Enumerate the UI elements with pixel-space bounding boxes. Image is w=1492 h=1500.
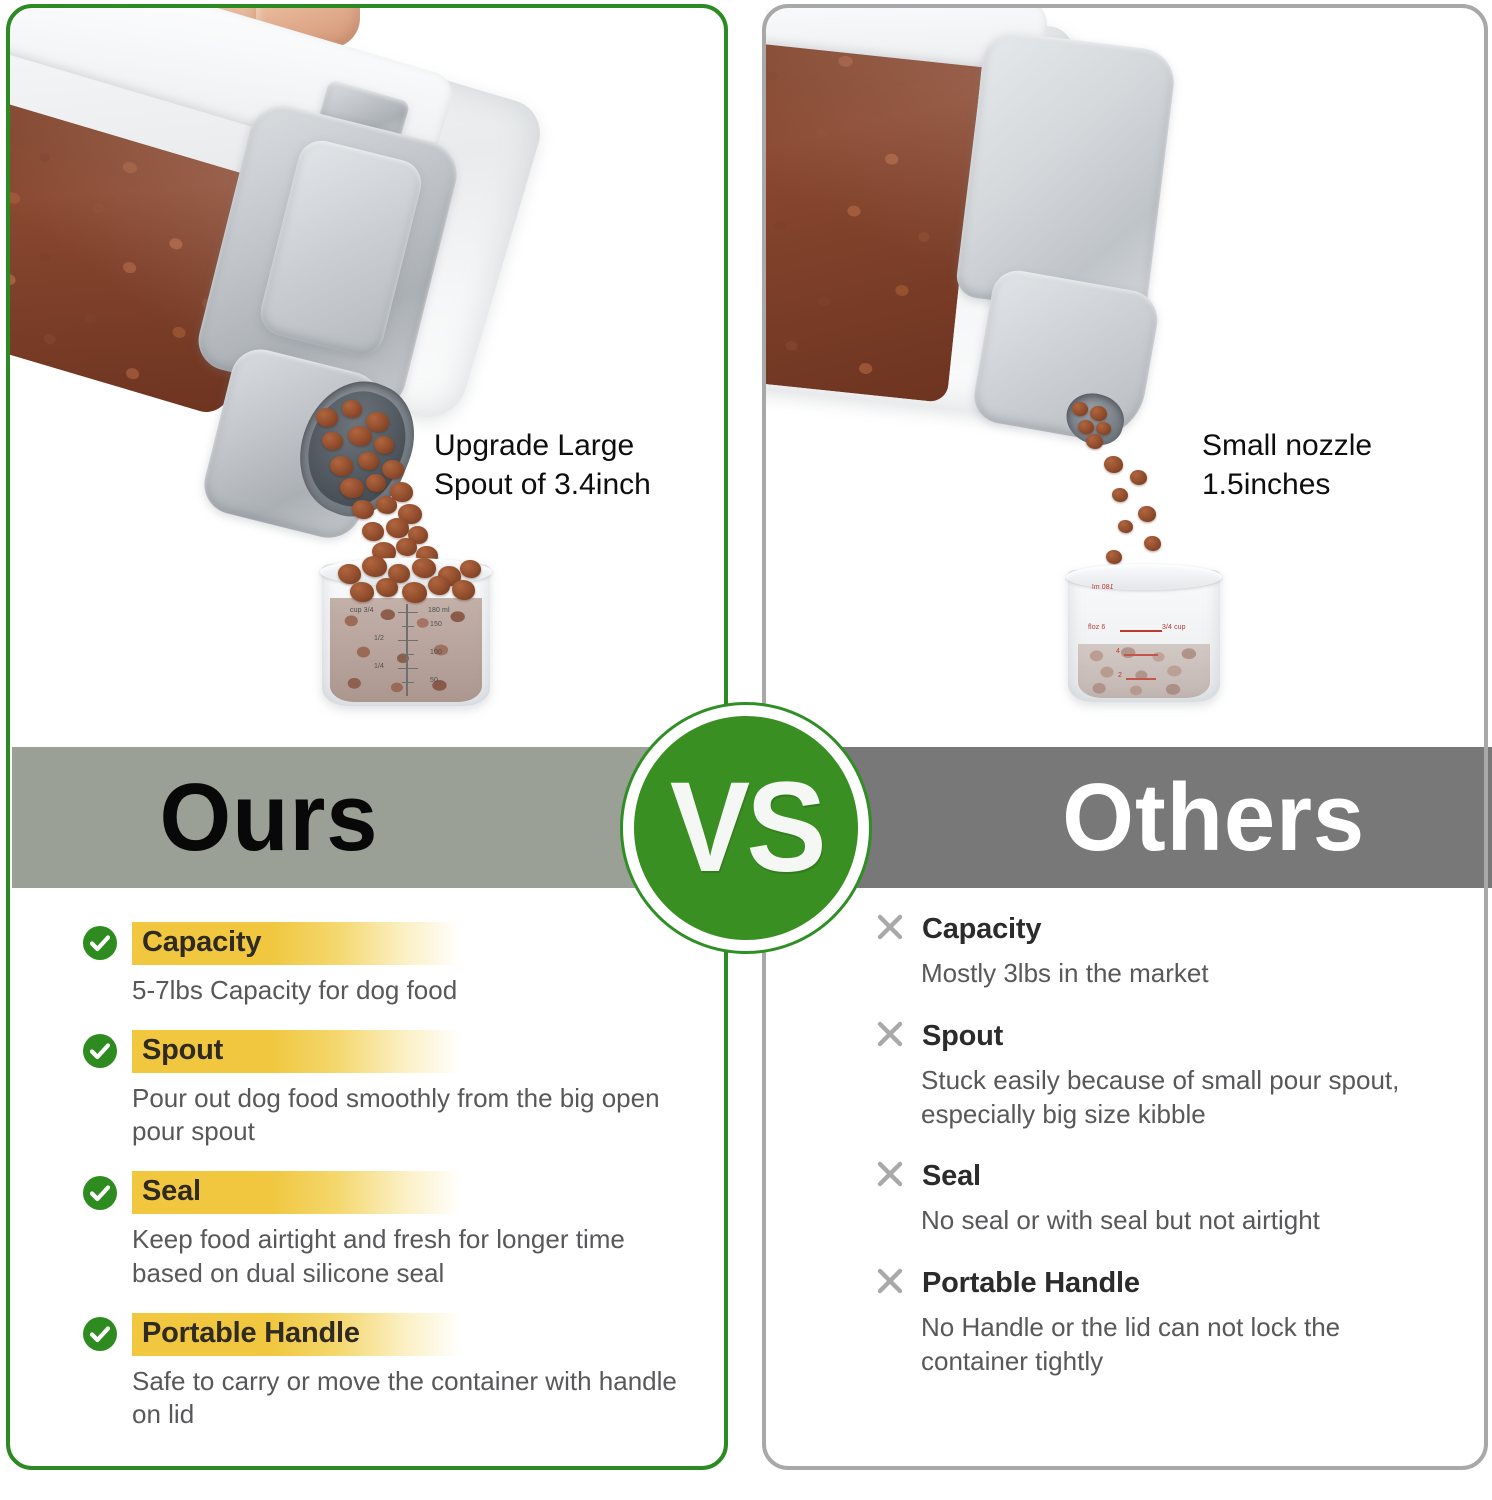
feature-heading: Capacity: [82, 922, 702, 965]
feature-item: Portable Handle Safe to carry or move th…: [82, 1313, 702, 1432]
check-circle-icon: [82, 1033, 118, 1069]
cup-label-right-1: 150: [430, 621, 442, 628]
measuring-cup-scale: cup 3/4 1/2 1/4 180 ml 150 100 50: [322, 604, 490, 696]
feature-heading: Capacity: [872, 912, 1452, 948]
ours-title: Ours: [160, 770, 379, 866]
feature-description: Keep food airtight and fresh for longer …: [132, 1223, 702, 1291]
x-mark-icon: [872, 1019, 908, 1055]
others-feature-list: Capacity Mostly 3lbs in the market Spout…: [872, 912, 1452, 1407]
cup-label-right-3: 50: [430, 677, 438, 684]
feature-description: Safe to carry or move the container with…: [132, 1365, 702, 1433]
cup-label-1: floz 6: [1088, 624, 1105, 631]
ours-product-photo: cup 3/4 1/2 1/4 180 ml 150 100 50 Upgrad…: [10, 8, 724, 738]
cup-label-right-0: 180 ml: [428, 607, 450, 614]
cup-label-right-2: 100: [430, 649, 442, 656]
feature-item: Spout Stuck easily because of small pour…: [872, 1019, 1452, 1132]
feature-heading: Spout: [872, 1019, 1452, 1055]
x-mark-icon: [872, 1159, 908, 1195]
kibble-in-container: [766, 8, 985, 403]
cup-label-3: 4: [1116, 648, 1120, 655]
feature-title-highlight: Capacity: [132, 922, 462, 965]
cup-label-left-2: 1/4: [374, 663, 384, 670]
feature-item: Capacity Mostly 3lbs in the market: [872, 912, 1452, 991]
feature-item: Spout Pour out dog food smoothly from th…: [82, 1030, 702, 1149]
measuring-cup-scale: 180 ml floz 6 3/4 cup 4 2: [1068, 580, 1220, 692]
feature-description: 5-7lbs Capacity for dog food: [132, 974, 702, 1008]
check-circle-icon: [82, 925, 118, 961]
x-mark-icon: [872, 912, 908, 948]
feature-heading: Portable Handle: [872, 1266, 1452, 1302]
feature-title: Seal: [142, 1175, 201, 1207]
feature-item: Portable Handle No Handle or the lid can…: [872, 1266, 1452, 1379]
feature-description: Mostly 3lbs in the market: [921, 957, 1452, 991]
ours-callout-line1: Upgrade Large: [434, 426, 651, 465]
feature-title-highlight: Portable Handle: [132, 1313, 462, 1356]
feature-description: No seal or with seal but not airtight: [921, 1204, 1452, 1238]
feature-title: Spout: [142, 1034, 223, 1066]
feature-heading: Seal: [872, 1159, 1452, 1195]
cup-label-left-1: 1/2: [374, 635, 384, 642]
others-product-photo: 180 ml floz 6 3/4 cup 4 2 Small nozzle 1…: [766, 8, 1484, 738]
vs-label: VS: [670, 764, 823, 892]
feature-title-highlight: Seal: [132, 1171, 462, 1214]
others-title: Others: [1063, 770, 1366, 866]
others-callout-line1: Small nozzle: [1202, 426, 1372, 465]
feature-heading: Seal: [82, 1171, 702, 1214]
feature-title: Seal: [922, 1161, 981, 1193]
ours-title-band: Ours: [12, 747, 726, 888]
feature-item: Seal Keep food airtight and fresh for lo…: [82, 1171, 702, 1290]
feature-title: Portable Handle: [922, 1268, 1140, 1300]
feature-title: Portable Handle: [142, 1317, 360, 1349]
check-circle-icon: [82, 1175, 118, 1211]
feature-heading: Portable Handle: [82, 1313, 702, 1356]
feature-description: Stuck easily because of small pour spout…: [921, 1064, 1452, 1132]
x-mark-icon: [872, 1266, 908, 1302]
others-callout: Small nozzle 1.5inches: [1202, 426, 1372, 504]
feature-heading: Spout: [82, 1030, 702, 1073]
vs-inner-circle: VS: [634, 716, 858, 940]
feature-description: No Handle or the lid can not lock the co…: [921, 1311, 1452, 1379]
ours-feature-list: Capacity 5-7lbs Capacity for dog food Sp…: [82, 922, 702, 1454]
cup-label-2: 3/4 cup: [1162, 624, 1186, 631]
feature-title: Capacity: [922, 914, 1041, 946]
cup-label-0: 180 ml: [1092, 584, 1114, 591]
container-cap: [954, 29, 1177, 318]
feature-title: Spout: [922, 1021, 1003, 1053]
feature-title-highlight: Spout: [132, 1030, 462, 1073]
check-circle-icon: [82, 1316, 118, 1352]
vs-badge: VS: [620, 702, 872, 954]
ours-callout: Upgrade Large Spout of 3.4inch: [434, 426, 651, 504]
others-callout-line2: 1.5inches: [1202, 465, 1372, 504]
cup-label-left-0: cup 3/4: [350, 607, 374, 614]
ours-callout-line2: Spout of 3.4inch: [434, 465, 651, 504]
feature-item: Seal No seal or with seal but not airtig…: [872, 1159, 1452, 1238]
cup-label-4: 2: [1118, 672, 1122, 679]
feature-title: Capacity: [142, 926, 261, 958]
feature-description: Pour out dog food smoothly from the big …: [132, 1082, 702, 1150]
feature-item: Capacity 5-7lbs Capacity for dog food: [82, 922, 702, 1008]
comparison-infographic: cup 3/4 1/2 1/4 180 ml 150 100 50 Upgrad…: [0, 0, 1492, 1500]
